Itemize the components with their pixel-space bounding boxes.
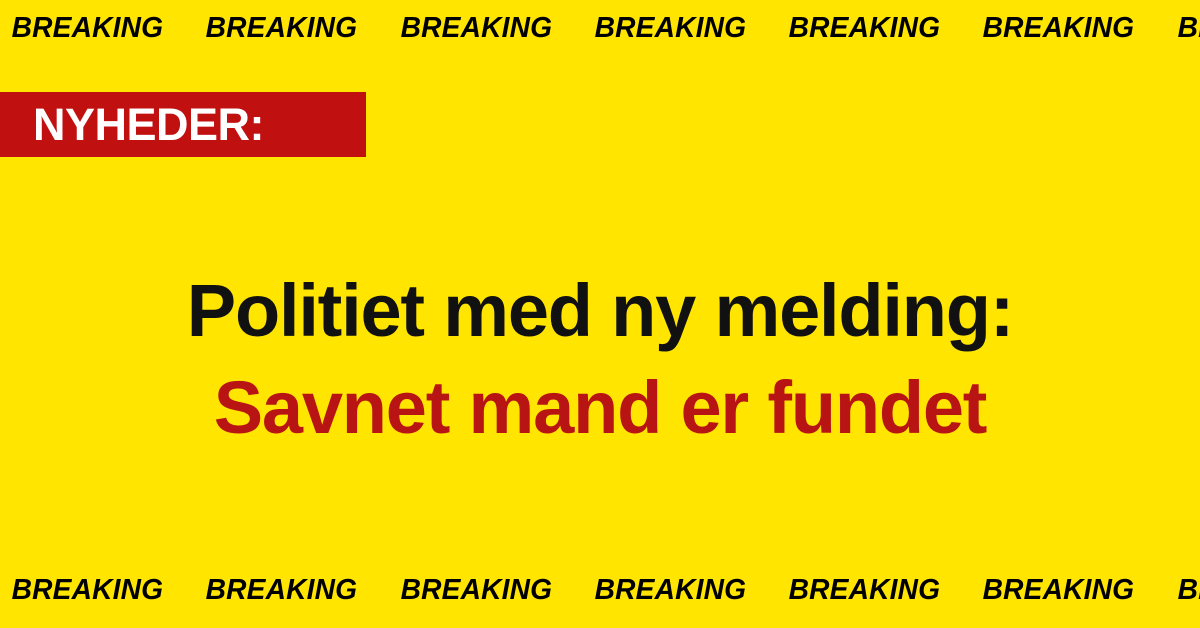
ticker-word: BREAKING	[971, 576, 1159, 605]
headline-block: Politiet med ny melding: Savnet mand er …	[0, 262, 1200, 456]
headline-line-secondary: Savnet mand er fundet	[0, 359, 1200, 456]
ticker-word: BREAKING	[1166, 576, 1200, 605]
ticker-word: BREAKING	[1166, 14, 1200, 43]
ticker-word: BREAKING	[389, 14, 577, 43]
ticker-word: BREAKING	[777, 14, 965, 43]
headline-line-primary: Politiet med ny melding:	[0, 262, 1200, 359]
breaking-news-card: BREAKING BREAKING BREAKING BREAKING BREA…	[0, 0, 1200, 628]
ticker-strip-top: BREAKING BREAKING BREAKING BREAKING BREA…	[0, 0, 1200, 56]
ticker-word: BREAKING	[194, 14, 382, 43]
ticker-word: BREAKING	[971, 14, 1159, 43]
ticker-word: BREAKING	[389, 576, 577, 605]
news-kicker-badge: NYHEDER:	[0, 92, 366, 157]
ticker-word: BREAKING	[0, 576, 188, 605]
ticker-word: BREAKING	[583, 14, 771, 43]
news-kicker-label: NYHEDER:	[33, 102, 264, 147]
ticker-word: BREAKING	[777, 576, 965, 605]
ticker-word: BREAKING	[583, 576, 771, 605]
ticker-strip-bottom: BREAKING BREAKING BREAKING BREAKING BREA…	[0, 562, 1200, 618]
ticker-word: BREAKING	[194, 576, 382, 605]
ticker-word: BREAKING	[0, 14, 188, 43]
